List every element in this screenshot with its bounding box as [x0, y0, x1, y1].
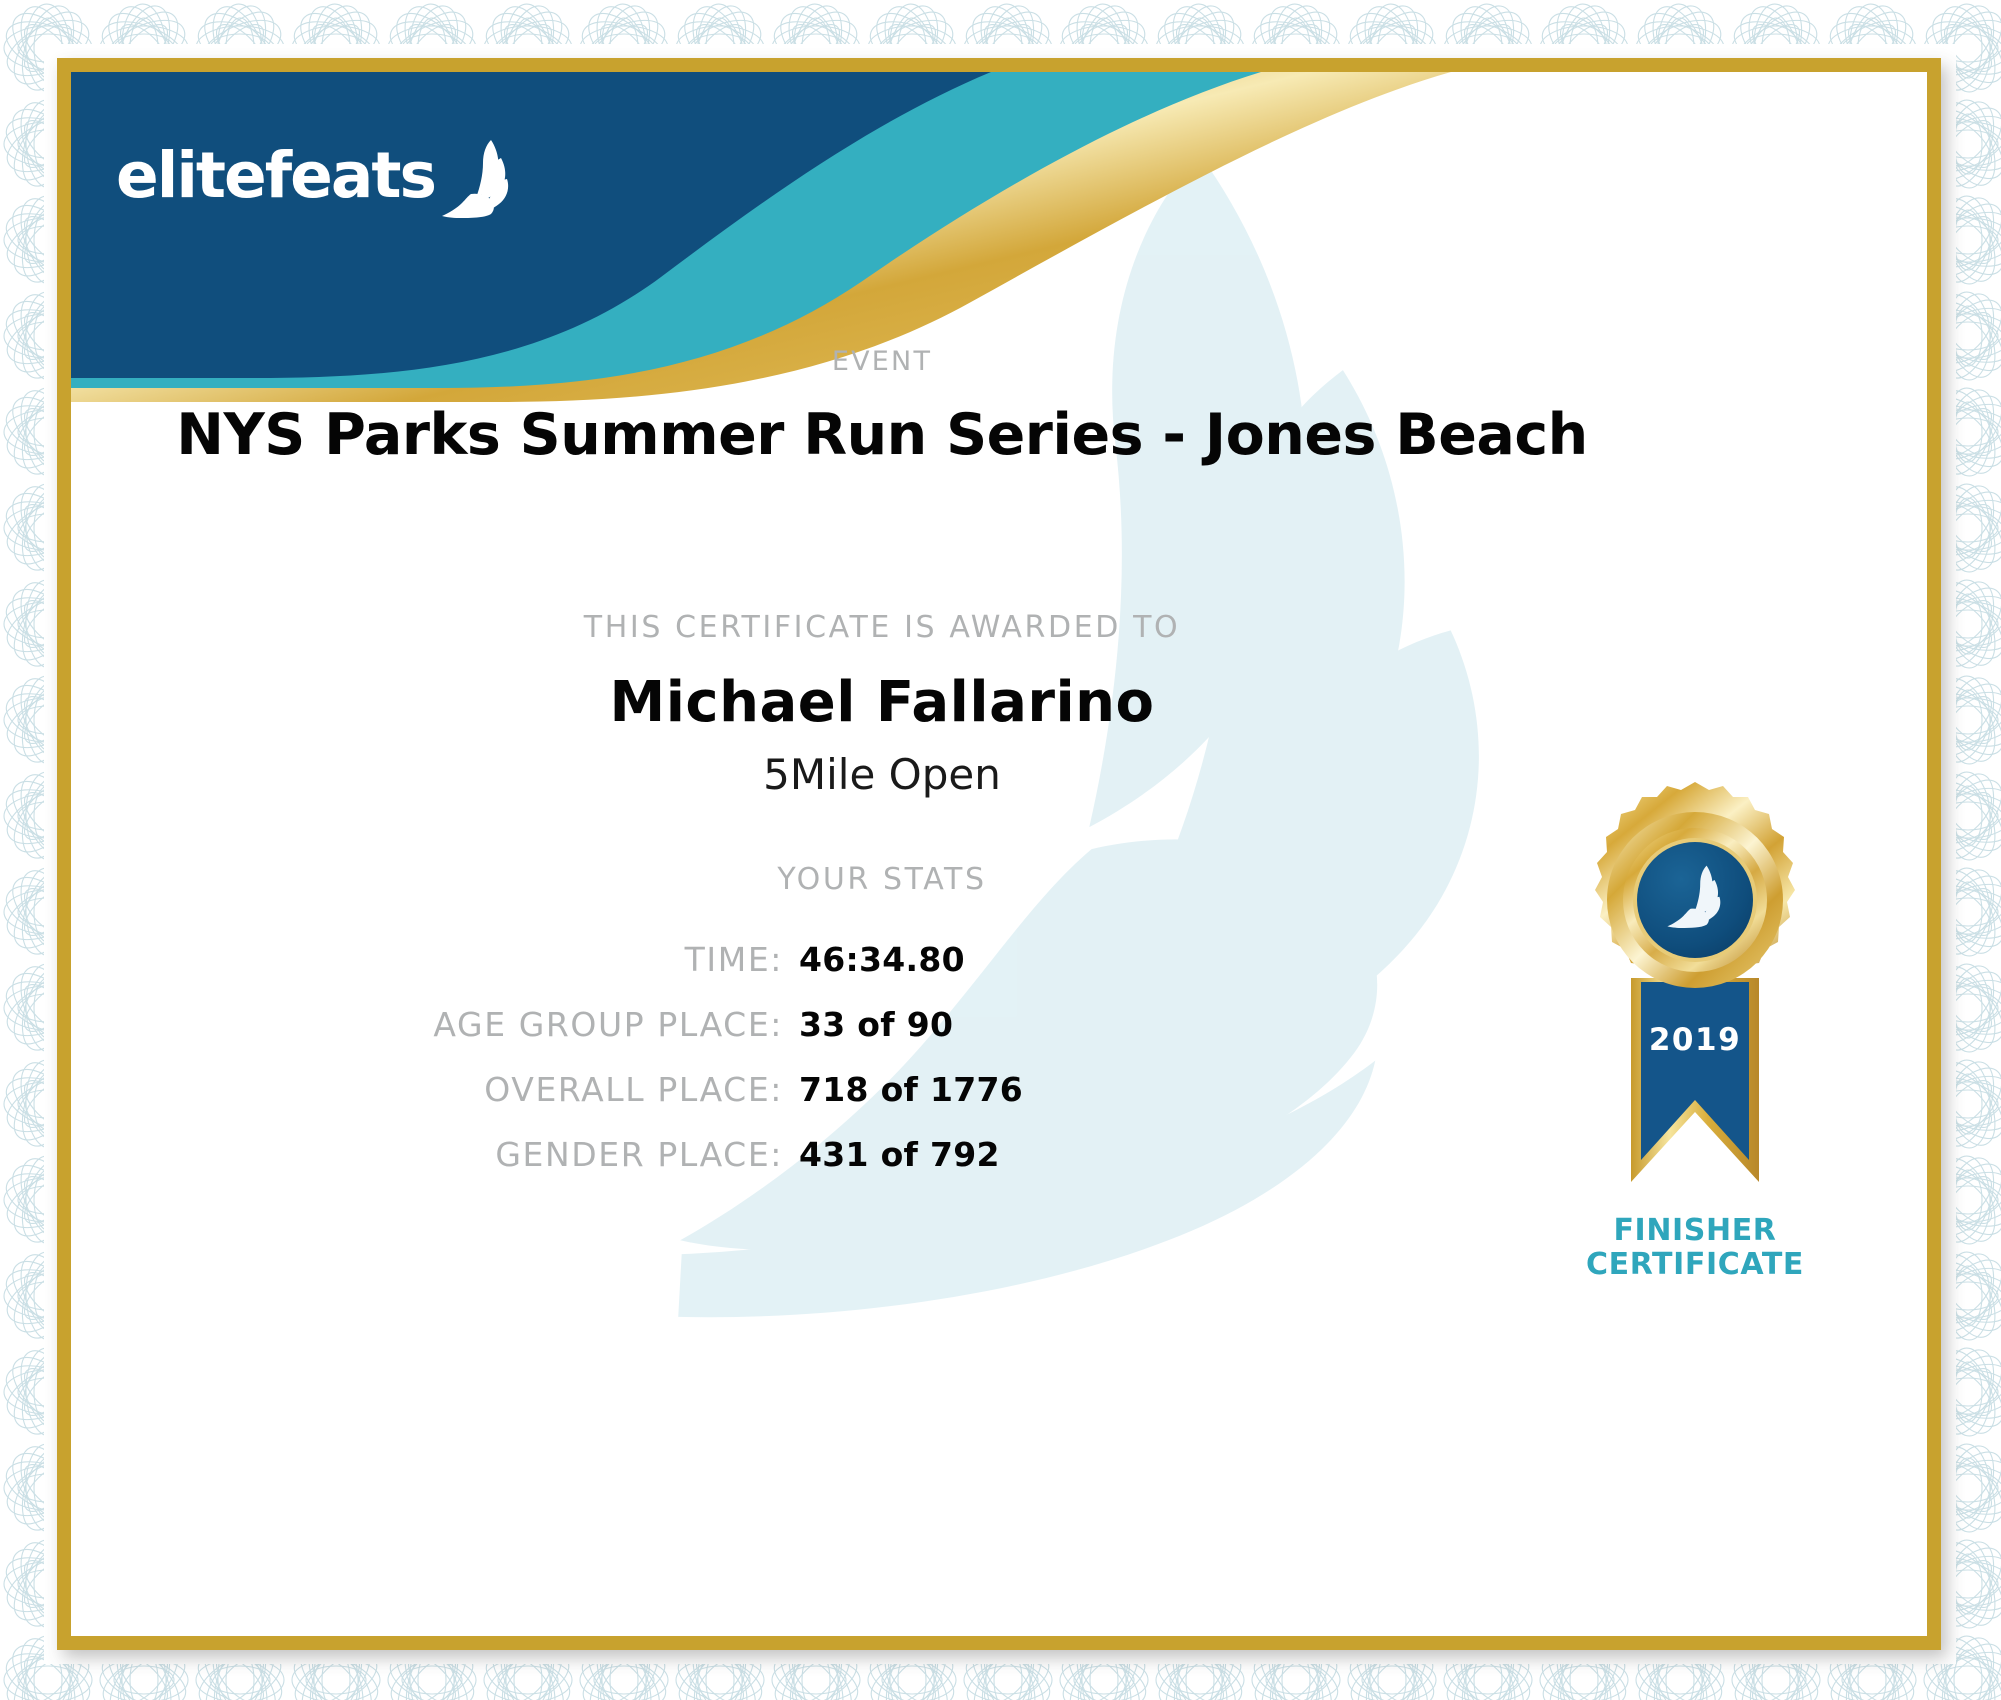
- stats-title-label: YOUR STATS: [777, 862, 986, 897]
- event-section: EVENT: [71, 346, 1693, 377]
- stat-label: OVERALL PLACE:: [71, 1070, 783, 1109]
- finisher-badge: 2019: [1545, 782, 1845, 1281]
- certificate-body: elitefeats EVENT NYS Parks Summer Run Se…: [71, 72, 1927, 1636]
- stat-label: AGE GROUP PLACE:: [71, 1005, 783, 1044]
- stat-label: GENDER PLACE:: [71, 1135, 783, 1174]
- stat-value: 718 of 1776: [799, 1070, 1023, 1109]
- stats-section-title: YOUR STATS: [71, 862, 1693, 897]
- badge-caption-line2: CERTIFICATE: [1545, 1248, 1845, 1282]
- stat-value: 431 of 792: [799, 1135, 1000, 1174]
- brand-logo: elitefeats: [116, 132, 513, 218]
- certificate-gold-frame: elitefeats EVENT NYS Parks Summer Run Se…: [57, 58, 1941, 1650]
- badge-year: 2019: [1649, 1022, 1741, 1058]
- brand-logo-text: elitefeats: [116, 144, 435, 207]
- badge-caption: FINISHER CERTIFICATE: [1545, 1214, 1845, 1281]
- awarded-to-section: THIS CERTIFICATE IS AWARDED TO: [71, 610, 1693, 645]
- stat-value: 46:34.80: [799, 940, 965, 979]
- certificate-content: EVENT NYS Parks Summer Run Series - Jone…: [71, 72, 1927, 1636]
- awardee-name: Michael Fallarino: [71, 670, 1693, 735]
- awarded-to-label: THIS CERTIFICATE IS AWARDED TO: [584, 610, 1180, 645]
- event-title: NYS Parks Summer Run Series - Jones Beac…: [71, 402, 1693, 468]
- event-label: EVENT: [832, 346, 932, 377]
- awardee-division: 5Mile Open: [71, 750, 1693, 799]
- badge-caption-line1: FINISHER: [1545, 1214, 1845, 1248]
- medal-ribbon-icon: 2019: [1545, 782, 1845, 1212]
- stat-label: TIME:: [71, 940, 783, 979]
- winged-foot-icon: [441, 138, 513, 218]
- stat-value: 33 of 90: [799, 1005, 953, 1044]
- certificate-page: elitefeats EVENT NYS Parks Summer Run Se…: [0, 0, 2001, 1700]
